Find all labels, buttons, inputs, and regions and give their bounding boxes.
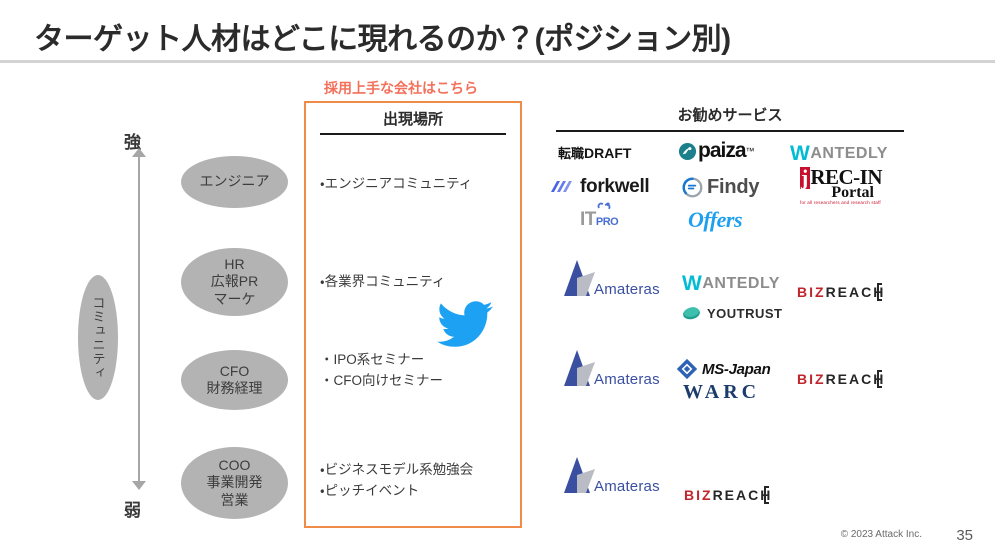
- findy-mark-icon: [682, 177, 703, 198]
- page-number: 35: [956, 527, 973, 544]
- role-ellipse-cfo-finance: CFO財務経理: [181, 350, 288, 410]
- amateras-mark-icon: [562, 455, 598, 497]
- paiza-wordmark: paiza: [698, 139, 746, 163]
- jrec-in-portal-word: Portal: [831, 184, 874, 201]
- bizreach-bracket-icon: [764, 486, 769, 504]
- youtrust-logo: YOUTRUST: [681, 305, 783, 321]
- amateras-logo: Amateras: [562, 455, 660, 497]
- bizreach-bracket-icon: [877, 283, 882, 301]
- copyright-text: © 2023 Attack Inc.: [841, 529, 922, 540]
- jrec-in-j-mark: j: [800, 167, 810, 189]
- forkwell-mark-icon: [549, 179, 575, 196]
- forkwell-wordmark: forkwell: [580, 176, 649, 198]
- ms-japan-mark-icon: [676, 358, 698, 380]
- wantedly-rest: ANTEDLY: [810, 145, 888, 163]
- it-pro-logo: IT PRO: [580, 209, 618, 231]
- bizreach-biz: BIZ: [797, 284, 826, 300]
- role-ellipse-hr-pr-marketing: HR広報PRマーケ: [181, 248, 288, 316]
- youtrust-mark-icon: [681, 305, 702, 321]
- it-pro-link-icon: [597, 202, 611, 210]
- bizreach-logo: BIZREACH: [684, 486, 769, 504]
- column-header-services-rule: [556, 130, 904, 132]
- place-list-hr: ・各業界コミュニティ: [320, 272, 445, 293]
- wantedly-w: W: [790, 142, 810, 166]
- warc-logo: WARC: [683, 381, 760, 404]
- place-list-cfo: ・IPO系セミナー・CFO向けセミナー: [320, 350, 443, 392]
- role-label: エンジニア: [200, 173, 270, 190]
- wantedly-rest: ANTEDLY: [702, 275, 780, 293]
- forkwell-logo: forkwell: [549, 176, 649, 198]
- amateras-mark-icon: [562, 258, 598, 300]
- offers-wordmark: Offers: [688, 207, 742, 233]
- tenshoku-draft-en: DRAFT: [584, 145, 631, 161]
- bizreach-biz: BIZ: [684, 487, 713, 503]
- column-header-places-rule: [320, 133, 506, 135]
- slide-canvas: ターゲット人材はどこに現れるのか？(ポジション別) 強 弱 コミュニティ エンジ…: [0, 0, 995, 550]
- bizreach-bracket-icon: [877, 370, 882, 388]
- community-axis-label: コミュニティ: [89, 296, 108, 380]
- it-pro-it: IT: [580, 209, 596, 231]
- page-title: ターゲット人材はどこに現れるのか？(ポジション別): [34, 14, 731, 58]
- title-divider: [0, 60, 995, 63]
- amateras-logo: Amateras: [562, 258, 660, 300]
- callout-label: 採用上手な会社はこちら: [324, 78, 478, 98]
- offers-logo: Offers: [688, 207, 742, 233]
- axis-label-weak: 弱: [124, 496, 141, 521]
- youtrust-wordmark: YOUTRUST: [707, 306, 783, 321]
- bizreach-logo: BIZREACH: [797, 370, 882, 388]
- axis-line: [138, 155, 140, 485]
- community-axis-badge: コミュニティ: [78, 275, 118, 400]
- jrec-in-tagline: for all researchers and research staff: [800, 201, 882, 206]
- jrec-in-portal-logo: jREC-IN Portal for all researchers and r…: [800, 167, 882, 206]
- amateras-mark-icon: [562, 348, 598, 390]
- column-header-services: お勧めサービス: [556, 104, 904, 125]
- tenshoku-draft-logo: 転職DRAFT: [558, 143, 631, 162]
- role-label: HR広報PRマーケ: [211, 256, 258, 307]
- ms-japan-wordmark: MS-Japan: [702, 361, 770, 378]
- ms-japan-logo: MS-Japan: [676, 358, 770, 380]
- wantedly-w: W: [682, 272, 702, 296]
- findy-wordmark: Findy: [707, 176, 759, 199]
- wantedly-logo: WANTEDLY: [790, 142, 888, 166]
- twitter-bird-icon: [432, 296, 498, 352]
- role-ellipse-coo-bizdev-sales: COO事業開発営業: [181, 447, 288, 519]
- paiza-logo: paiza™: [678, 139, 754, 163]
- axis-arrow-down-icon: [132, 481, 146, 490]
- paiza-tm: ™: [746, 146, 754, 156]
- bizreach-biz: BIZ: [797, 371, 826, 387]
- amateras-wordmark: Amateras: [594, 371, 660, 388]
- role-label: COO事業開発営業: [207, 457, 263, 508]
- role-ellipse-engineer: エンジニア: [181, 156, 288, 208]
- column-header-places: 出現場所: [304, 108, 522, 129]
- findy-logo: Findy: [682, 176, 759, 199]
- amateras-wordmark: Amateras: [594, 281, 660, 298]
- place-list-engineer: ・エンジニアコミュニティ: [320, 174, 472, 195]
- role-label: CFO財務経理: [207, 363, 263, 397]
- warc-wordmark: WARC: [683, 381, 760, 404]
- place-list-coo: ・ビジネスモデル系勉強会・ピッチイベント: [320, 460, 473, 502]
- it-pro-pro: PRO: [596, 216, 618, 228]
- amateras-logo: Amateras: [562, 348, 660, 390]
- tenshoku-draft-jp: 転職: [558, 143, 584, 162]
- wantedly-logo: WANTEDLY: [682, 272, 780, 296]
- paiza-mark-icon: [678, 142, 697, 161]
- bizreach-logo: BIZREACH: [797, 283, 882, 301]
- amateras-wordmark: Amateras: [594, 478, 660, 495]
